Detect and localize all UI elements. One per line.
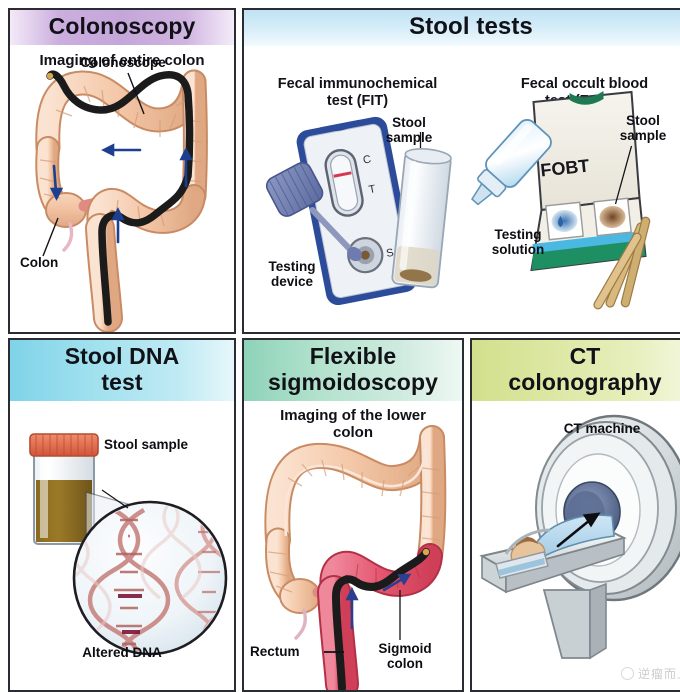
label-fobt-testing-solution: Testing solution: [475, 228, 561, 258]
panel-stool-tests-header: Stool tests: [244, 10, 680, 46]
panel-colonoscopy: Colonoscopy Imaging of entire colon: [8, 8, 236, 334]
watermark: 逆瘤而上: [621, 665, 680, 682]
watermark-text: 逆瘤而上: [638, 665, 680, 682]
screening-tests-figure: Colonoscopy Imaging of entire colon: [0, 0, 680, 680]
label-altered-dna: Altered DNA: [10, 646, 234, 661]
ct-colonography-illustration: [472, 340, 680, 690]
fit-illustration: C T S: [244, 70, 471, 332]
panel-stool-tests: Stool tests Fecal immunochemical test (F…: [242, 8, 680, 334]
watermark-logo-icon: [621, 667, 634, 680]
label-sigmoid-colon: Sigmoid colon: [366, 642, 444, 672]
label-fit-testing-device: Testing device: [252, 260, 332, 290]
panel-stool-dna: Stool DNA test: [8, 338, 236, 692]
label-ct-machine: CT machine: [532, 422, 672, 437]
label-dna-stool-sample: Stool sample: [102, 438, 190, 453]
stool-dna-illustration: [10, 340, 234, 690]
subpanel-fobt: Fecal occult blood test (FOBT): [471, 70, 680, 332]
panel-flexible-sigmoidoscopy: Flexible sigmoidoscopy Imaging of the lo…: [242, 338, 464, 692]
label-fobt-stool-sample: Stool sample: [605, 114, 680, 144]
subpanel-fit: Fecal immunochemical test (FIT): [244, 70, 471, 332]
label-colon: Colon: [20, 256, 90, 271]
fobt-illustration: FOBT: [471, 70, 680, 332]
label-fit-stool-sample: Stool sample: [372, 116, 446, 146]
sigmoidoscopy-illustration: [244, 340, 462, 690]
label-colonoscope: Colonoscope: [68, 56, 178, 71]
label-rectum: Rectum: [250, 645, 320, 660]
panel-ct-colonography: CT colonography: [470, 338, 680, 692]
